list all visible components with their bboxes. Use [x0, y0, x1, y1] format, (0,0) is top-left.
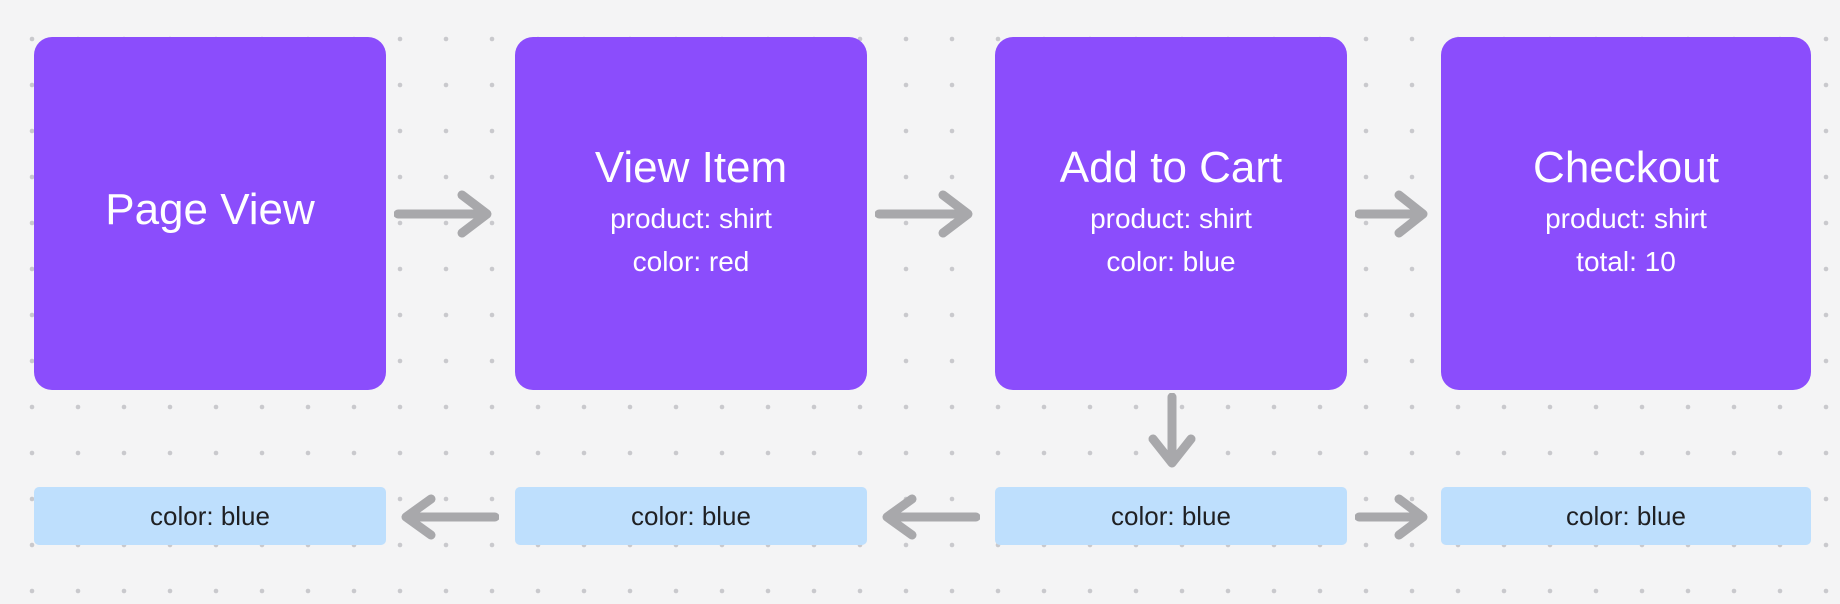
event-node-properties: product: shirt color: blue — [1090, 198, 1252, 283]
event-property: product: shirt — [1090, 198, 1252, 241]
event-property: product: shirt — [610, 198, 772, 241]
diagram-canvas: Page View View Item product: shirt color… — [0, 0, 1840, 604]
property-chip-label: color: blue — [631, 501, 751, 532]
event-node-title: View Item — [595, 144, 787, 192]
property-chip-label: color: blue — [150, 501, 270, 532]
arrow-left-icon — [875, 494, 980, 540]
property-chip[interactable]: color: blue — [995, 487, 1347, 545]
event-node-title: Checkout — [1533, 144, 1719, 192]
property-chip[interactable]: color: blue — [515, 487, 867, 545]
event-property: color: red — [633, 241, 750, 284]
arrow-right-icon — [1355, 494, 1435, 540]
event-node-properties: product: shirt total: 10 — [1545, 198, 1707, 283]
event-property: color: blue — [1106, 241, 1235, 284]
event-node-view-item[interactable]: View Item product: shirt color: red — [515, 37, 867, 390]
event-node-title: Add to Cart — [1060, 144, 1283, 192]
event-node-checkout[interactable]: Checkout product: shirt total: 10 — [1441, 37, 1811, 390]
property-chip-label: color: blue — [1566, 501, 1686, 532]
event-property: product: shirt — [1545, 198, 1707, 241]
property-chip[interactable]: color: blue — [34, 487, 386, 545]
property-chip[interactable]: color: blue — [1441, 487, 1811, 545]
event-node-title: Page View — [105, 186, 315, 234]
arrow-left-icon — [394, 494, 499, 540]
event-node-properties: product: shirt color: red — [610, 198, 772, 283]
arrow-down-icon — [1143, 393, 1201, 475]
property-chip-label: color: blue — [1111, 501, 1231, 532]
event-node-add-to-cart[interactable]: Add to Cart product: shirt color: blue — [995, 37, 1347, 390]
event-node-page-view[interactable]: Page View — [34, 37, 386, 390]
arrow-right-icon — [1355, 185, 1435, 243]
event-property: total: 10 — [1576, 241, 1676, 284]
arrow-right-icon — [875, 185, 980, 243]
arrow-right-icon — [394, 185, 499, 243]
